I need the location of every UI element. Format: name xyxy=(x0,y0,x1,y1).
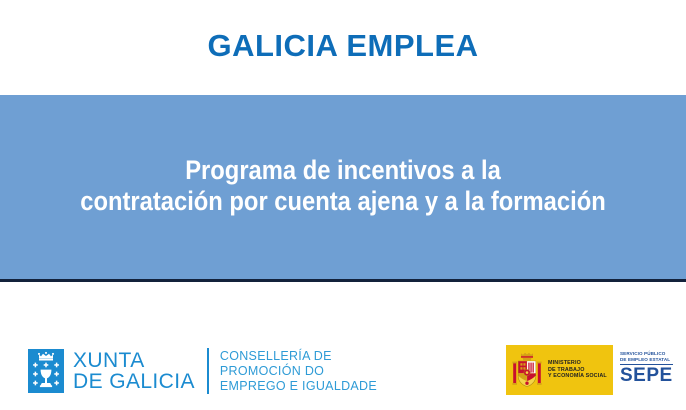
program-banner-text: Programa de incentivos a la contratación… xyxy=(41,155,645,217)
consellaria-line-2: PROMOCIÓN DO xyxy=(220,364,377,379)
footer-logo-bar: XUNTA DE GALICIA CONSELLERÍA DE PROMOCIÓ… xyxy=(0,283,686,410)
sepe-wordmark: SEPE xyxy=(620,366,677,386)
consellaria-line-3: EMPREGO E IGUALDADE xyxy=(220,379,377,394)
ministerio-line-3: Y ECONOMÍA SOCIAL xyxy=(548,373,607,380)
ministerio-wordmark: MINISTERIO DE TRABAJO Y ECONOMÍA SOCIAL xyxy=(548,360,607,380)
sepe-subtitle-line-2: DE EMPLEO ESTATAL xyxy=(620,357,677,363)
program-banner-line-1: Programa de incentivos a la xyxy=(41,155,645,186)
program-banner-line-2: contratación por cuenta ajena y a la for… xyxy=(41,186,645,217)
program-banner: Programa de incentivos a la contratación… xyxy=(0,95,686,282)
spain-coat-of-arms-icon xyxy=(511,350,543,390)
page-title: GALICIA EMPLEA xyxy=(0,29,686,63)
xunta-wordmark-line-2: DE GALICIA xyxy=(73,371,195,392)
ministerio-line-1: MINISTERIO xyxy=(548,360,607,367)
sepe-logo: SERVICIO PÚBLICO DE EMPLEO ESTATAL SEPE xyxy=(613,345,681,395)
logo-divider xyxy=(207,348,209,394)
xunta-wordmark-line-1: XUNTA xyxy=(73,350,195,371)
sepe-subtitle: SERVICIO PÚBLICO DE EMPLEO ESTATAL xyxy=(620,351,677,362)
xunta-wordmark: XUNTA DE GALICIA xyxy=(73,350,195,392)
xunta-de-galicia-logo: XUNTA DE GALICIA CONSELLERÍA DE PROMOCIÓ… xyxy=(28,348,377,394)
xunta-emblem-icon xyxy=(28,349,64,393)
ministerio-de-trabajo-logo: MINISTERIO DE TRABAJO Y ECONOMÍA SOCIAL xyxy=(506,345,613,395)
consellaria-line-1: CONSELLERÍA DE xyxy=(220,349,377,364)
consellaria-wordmark: CONSELLERÍA DE PROMOCIÓN DO EMPREGO E IG… xyxy=(220,349,377,394)
government-logos: MINISTERIO DE TRABAJO Y ECONOMÍA SOCIAL … xyxy=(506,345,681,395)
